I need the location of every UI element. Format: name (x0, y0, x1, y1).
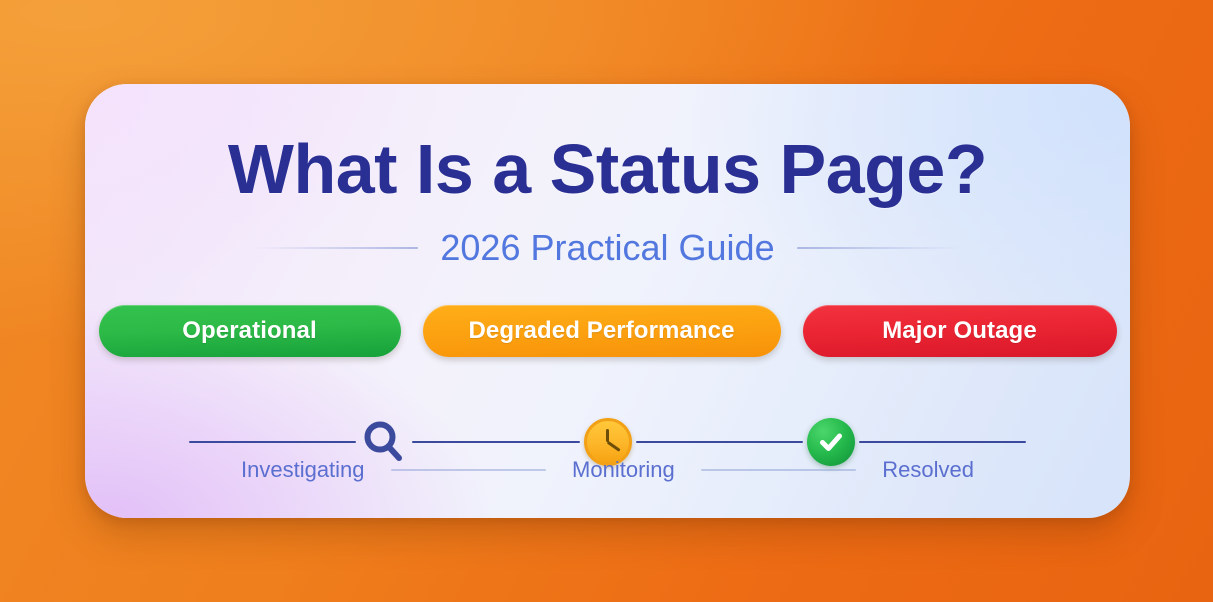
label-divider-2 (701, 469, 857, 471)
timeline-label-investigating: Investigating (241, 459, 365, 481)
subtitle-rule-left (254, 247, 418, 249)
timeline-connector-2 (636, 441, 803, 443)
timeline-connector-end (859, 441, 1026, 443)
checkmark-glyph (816, 427, 846, 457)
status-page-card: What Is a Status Page? 2026 Practical Gu… (85, 84, 1130, 518)
clock-hand-minute (607, 441, 621, 452)
timeline-label-monitoring: Monitoring (572, 459, 675, 481)
card-content: What Is a Status Page? 2026 Practical Gu… (85, 84, 1130, 518)
page-subtitle: 2026 Practical Guide (440, 230, 774, 266)
timeline-labels: Investigating Monitoring Resolved (189, 459, 1026, 481)
poster-canvas: What Is a Status Page? 2026 Practical Gu… (0, 0, 1213, 602)
timeline-connector-1 (412, 441, 579, 443)
status-badge-operational[interactable]: Operational (99, 305, 401, 357)
timeline-connector-start (189, 441, 356, 443)
subtitle-row: 2026 Practical Guide (85, 230, 1130, 266)
timeline-label-resolved: Resolved (882, 459, 974, 481)
status-badge-major-outage[interactable]: Major Outage (803, 305, 1117, 357)
page-title: What Is a Status Page? (85, 134, 1130, 204)
status-badge-group: Operational Degraded Performance Major O… (85, 305, 1130, 357)
incident-timeline: Investigating Monitoring Resolved (189, 386, 1026, 501)
status-badge-degraded-performance[interactable]: Degraded Performance (423, 305, 781, 357)
label-divider-1 (391, 469, 547, 471)
subtitle-rule-right (797, 247, 961, 249)
